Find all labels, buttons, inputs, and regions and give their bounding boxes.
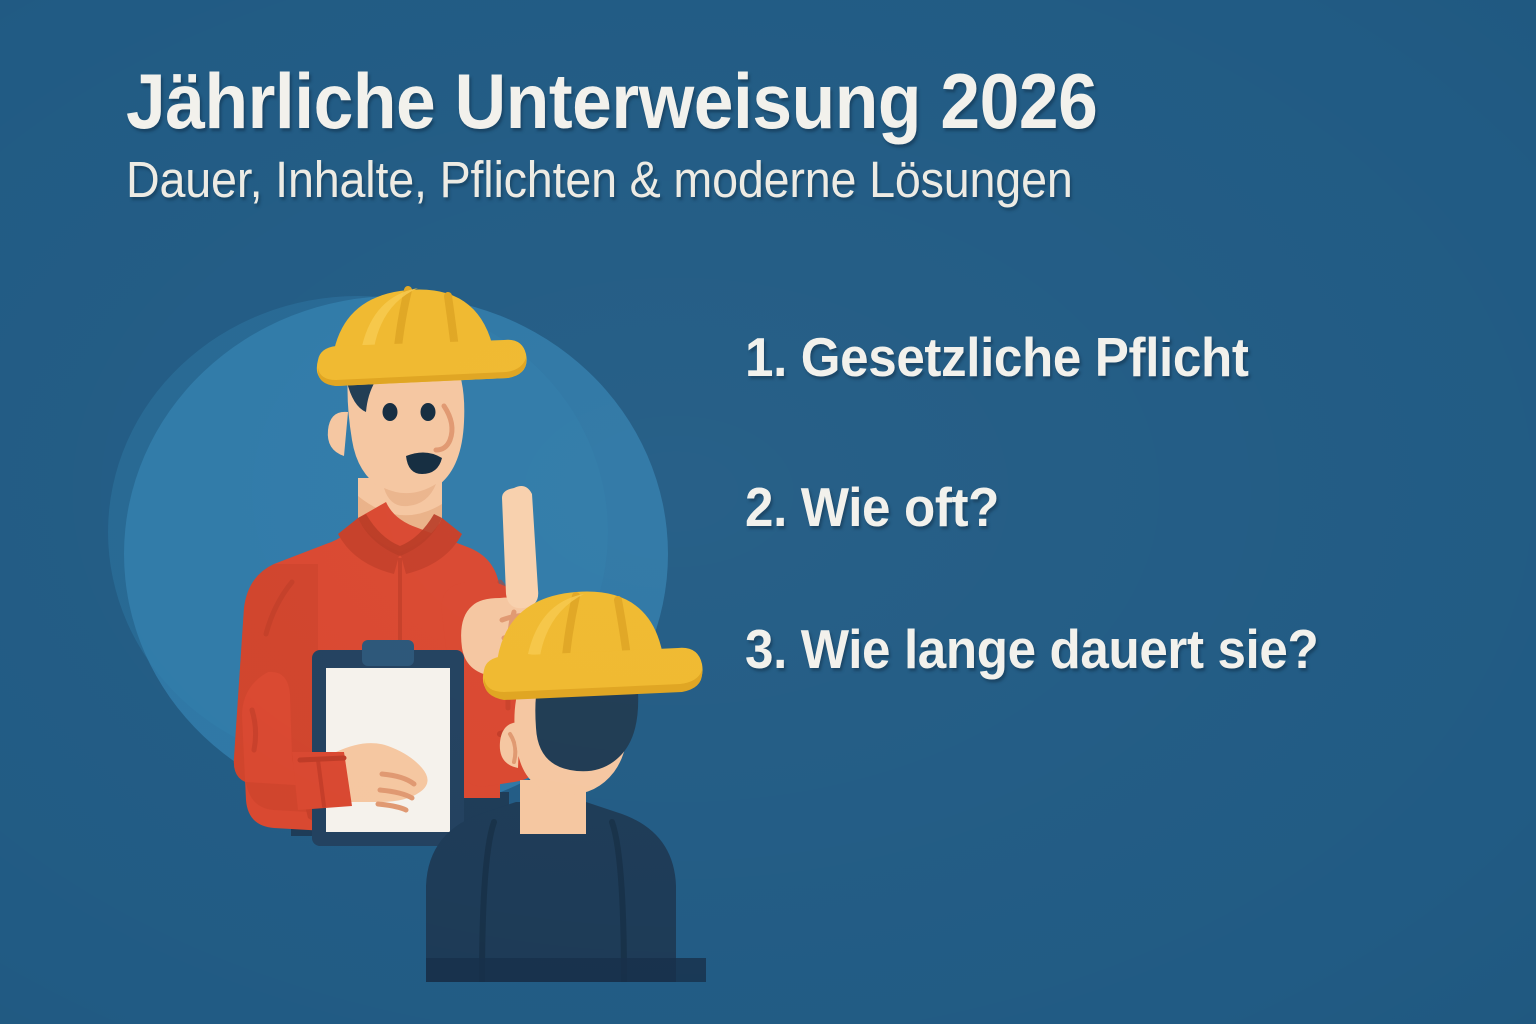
headline-block: Jährliche Unterweisung 2026 Dauer, Inhal…	[126, 62, 1466, 205]
agenda-item-1: 1. Gesetzliche Pflicht	[745, 330, 1452, 480]
left-eye	[383, 403, 398, 421]
agenda-item-2: 2. Wie oft?	[745, 480, 1452, 622]
right-eye	[421, 403, 436, 421]
page-subtitle: Dauer, Inhalte, Pflichten & moderne Lösu…	[126, 154, 1352, 205]
safety-briefing-illustration	[96, 282, 716, 982]
poster-canvas: Jährliche Unterweisung 2026 Dauer, Inhal…	[0, 0, 1536, 1024]
page-title: Jährliche Unterweisung 2026	[126, 62, 1352, 140]
agenda-item-3: 3. Wie lange dauert sie?	[745, 622, 1452, 772]
clipboard	[312, 640, 464, 846]
agenda-list: 1. Gesetzliche Pflicht 2. Wie oft? 3. Wi…	[745, 330, 1505, 772]
